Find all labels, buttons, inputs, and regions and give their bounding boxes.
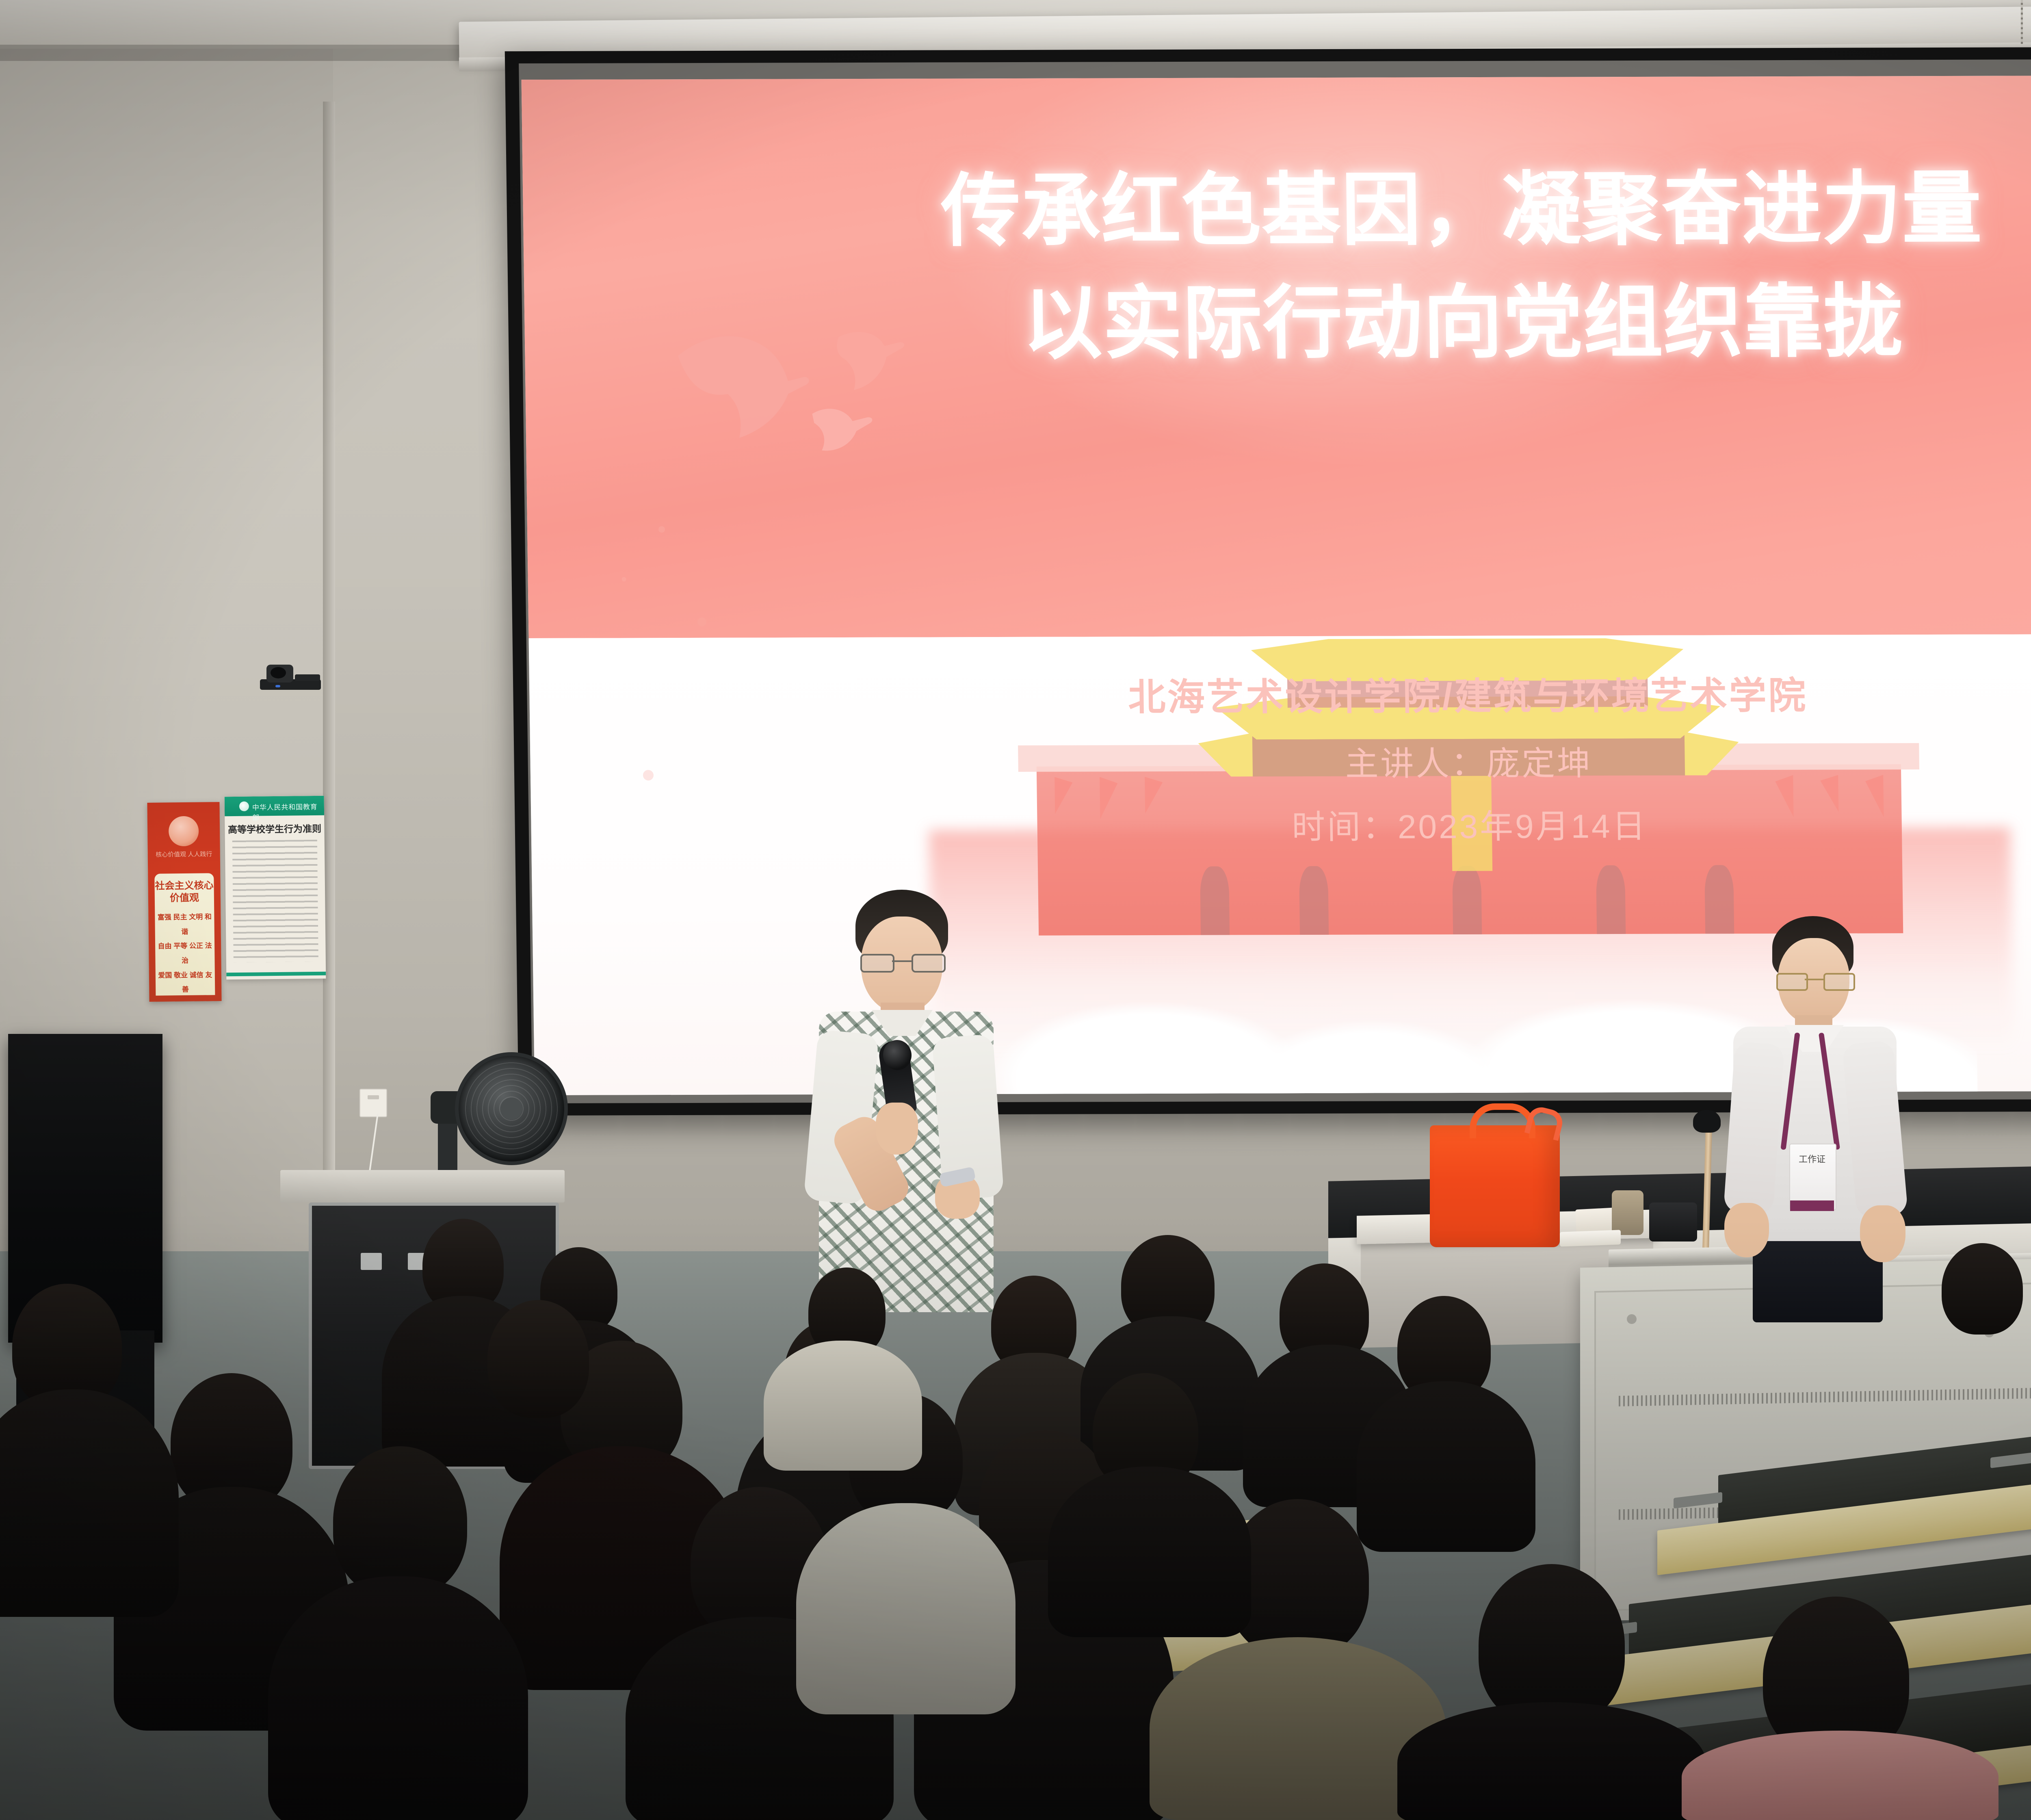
poster-green-bodytext xyxy=(232,840,318,962)
glasses-bridge xyxy=(892,960,912,962)
poster-title: 社会主义核心价值观 xyxy=(154,880,214,905)
gate-arch xyxy=(1452,866,1482,934)
camera-arm xyxy=(295,674,320,681)
staff-person: 工作证 xyxy=(1708,916,1919,1282)
poster-emblem-icon xyxy=(169,816,199,847)
glasses-bridge xyxy=(1805,979,1823,980)
wall-fan-icon[interactable] xyxy=(431,1052,561,1186)
case-latch[interactable] xyxy=(361,1253,382,1270)
fan-head xyxy=(455,1052,568,1165)
id-badge-text: 工作证 xyxy=(1789,1153,1835,1166)
podium-lock-icon[interactable] xyxy=(1627,1314,1637,1324)
fan-hub xyxy=(500,1098,522,1120)
gate-arch xyxy=(1596,865,1626,934)
audience-head xyxy=(1942,1243,2023,1335)
wall-power-outlet[interactable] xyxy=(359,1089,387,1117)
staff-left-hand xyxy=(1724,1203,1769,1257)
slide-dot xyxy=(622,577,626,581)
audience-shoulders xyxy=(1397,1702,1706,1820)
camera-led-icon xyxy=(275,685,280,687)
audience-body xyxy=(268,1576,528,1820)
audience-head xyxy=(487,1300,589,1418)
poster-value-card: 社会主义核心价值观 富强 民主 文明 和谐 自由 平等 公正 法治 爱国 敬业 … xyxy=(154,873,215,996)
poster-value-row: 爱国 敬业 诚信 友善 xyxy=(156,968,215,997)
audience-body xyxy=(1048,1467,1251,1637)
glasses-lens xyxy=(1776,973,1808,991)
bag-handle xyxy=(1470,1103,1535,1138)
audience-body-light xyxy=(764,1341,922,1471)
staff-right-hand xyxy=(1860,1205,1905,1262)
slide-organization: 北海艺术设计学院/建筑与环境艺术学院 xyxy=(529,664,2031,723)
desk-object-case[interactable] xyxy=(1649,1202,1697,1241)
gate-arch xyxy=(1200,866,1230,935)
glasses-lens xyxy=(860,954,894,973)
slide-speaker: 主讲人：庞定坤 xyxy=(530,734,2031,787)
audience-body xyxy=(1357,1381,1535,1552)
poster-emblem-caption: 核心价值观 人人践行 xyxy=(148,850,220,860)
lecture-hall-photo: 传承红色基因，凝聚奋进力量 以实际行动向党组织靠拢 xyxy=(0,0,2031,1820)
slide-date: 时间：2023年9月14日 xyxy=(531,797,2031,850)
presenter-person xyxy=(776,890,1028,1312)
socialist-core-values-poster: 核心价值观 人人践行 社会主义核心价值观 富强 民主 文明 和谐 自由 平等 公… xyxy=(147,802,221,1002)
poster-values-list: 富强 民主 文明 和谐 自由 平等 公正 法治 爱国 敬业 诚信 友善 xyxy=(155,910,215,997)
poster-green-footer xyxy=(226,972,326,977)
screen-chain xyxy=(2021,0,2023,44)
ptz-camera-icon xyxy=(260,665,321,690)
audience-body-light xyxy=(796,1503,1015,1714)
id-badge-bar xyxy=(1790,1200,1834,1211)
student-code-of-conduct-poster: 中华人民共和国教育部 高等学校学生行为准则 xyxy=(225,796,326,980)
left-wall-edge xyxy=(323,102,335,1267)
poster-value-row: 富强 民主 文明 和谐 xyxy=(155,910,214,939)
red-plastic-bag[interactable] xyxy=(1430,1125,1560,1247)
audience-shoulders xyxy=(1682,1731,1999,1820)
poster-green-title: 高等学校学生行为准则 xyxy=(225,821,324,836)
ministry-logo-icon xyxy=(239,802,249,811)
camera-lens-icon xyxy=(271,667,286,678)
staff-trousers xyxy=(1753,1241,1883,1322)
presenter-glasses-icon xyxy=(860,954,944,970)
equipment-rack-top xyxy=(280,1170,565,1202)
staff-glasses-icon xyxy=(1776,973,1852,988)
gate-arch xyxy=(1299,866,1329,935)
desk-object-paper[interactable] xyxy=(1560,1230,1621,1246)
glasses-lens xyxy=(1823,973,1855,991)
poster-green-logo-text: 中华人民共和国教育部 xyxy=(252,801,325,822)
presenter-hand xyxy=(876,1103,918,1155)
glasses-lens xyxy=(912,954,946,973)
slide-dot xyxy=(697,617,706,626)
audience-head xyxy=(333,1446,467,1597)
poster-value-row: 自由 平等 公正 法治 xyxy=(155,939,215,968)
desk-object-bottle[interactable] xyxy=(1612,1190,1643,1235)
slide-subtitle-block: 北海艺术设计学院/建筑与环境艺术学院 主讲人：庞定坤 时间：2023年9月14日 xyxy=(529,664,2031,850)
slide-title-line-1: 传承红色基因，凝聚奋进力量 xyxy=(522,151,2031,269)
doves-icon xyxy=(628,302,949,485)
